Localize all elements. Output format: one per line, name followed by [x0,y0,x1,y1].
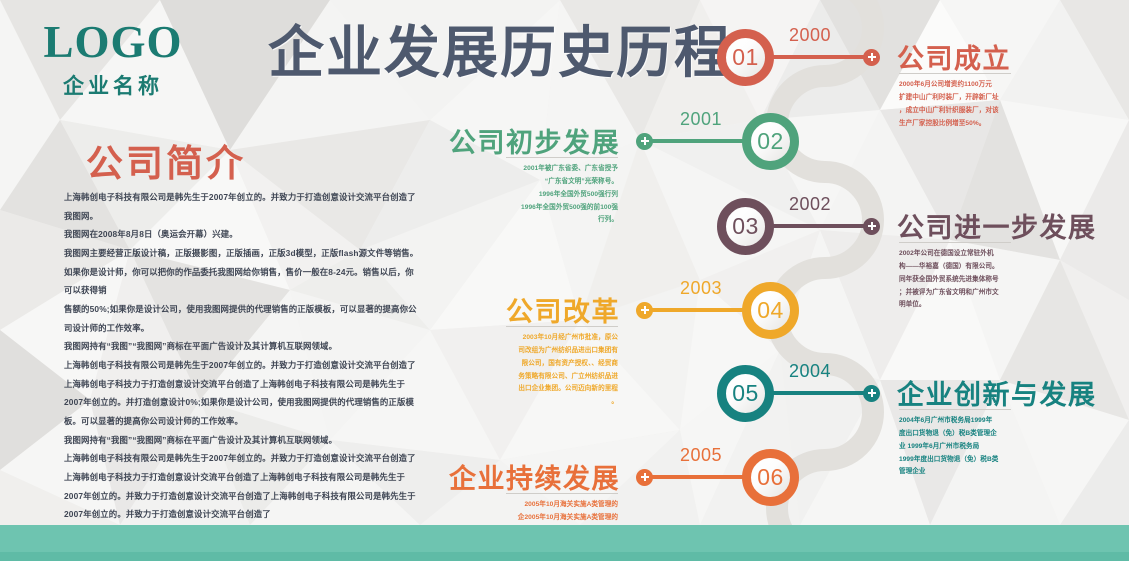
profile-paragraph: 上海韩创电子科技有限公司是韩先生于2007年创立的。并致力于打造创意设计交流平台… [64,449,420,468]
timeline-description-line: ，成立中山广利针织服装厂，对该 [899,105,1015,118]
plus-icon [641,306,649,314]
profile-paragraph: 我图网持有“我图”“我图网”商标在平面广告设计及其计算机互联网领域。 [64,431,420,450]
timeline-connector-line [765,391,871,395]
timeline-connector-line [644,139,750,143]
timeline-plus-knob[interactable] [863,218,880,235]
timeline-title-rule [899,73,1011,74]
timeline-year-label: 2004 [789,361,831,382]
timeline-title-rule [506,157,618,158]
timeline-year-label: 2001 [680,109,722,130]
profile-paragraph: 上海韩创电子科技有限公司是韩先生于2007年创立的。并致力于打造创意设计交流平台… [64,188,420,207]
timeline-description-line: “广东省文明”光荣称号。 [502,176,618,189]
timeline-item-title: 公司改革 [506,290,620,329]
timeline-description-line: ；并被评为广东省文明和广州市文 [899,287,1015,300]
timeline-connector-line [644,308,750,312]
timeline-description-line: 1996年全国外贸500强行列 [502,189,618,202]
plus-icon [868,53,876,61]
timeline-description-line: 2001年被广东省委、广东省授予 [502,163,618,176]
timeline-description-line: 限公司，国有资产授权、、经贸商 [502,358,618,371]
timeline-plus-knob[interactable] [636,469,653,486]
timeline-description-line: 1999年度出口货物退（免）税B类 [899,454,1015,467]
plus-icon [641,473,649,481]
timeline-description-line: 明单位。 [899,299,1015,312]
timeline-description-line: 生产厂家控股比例增至50%。 [899,118,1015,131]
timeline-description-line: 2000年6月公司增资约1100万元 [899,79,1015,92]
timeline-description-line: 同年获全国外贸系统先进集体称号 [899,274,1015,287]
timeline-item-description: 2002年公司在德国设立常驻外机构——华裕嘉（德国）有限公司。同年获全国外贸系统… [899,248,1015,312]
timeline-title-rule [899,409,1011,410]
profile-paragraph: 如果你是设计师，你可以把你的作品委托我图网给你销售，售价一般在8-24元。销售以… [64,263,420,282]
timeline-title-rule [899,242,1011,243]
timeline-plus-knob[interactable] [636,133,653,150]
company-profile-heading: 公司简介 [86,133,246,187]
timeline-year-label: 2005 [680,445,722,466]
timeline-item-description: 2001年被广东省委、广东省授予“广东省文明”光荣称号。1996年全国外贸500… [502,163,618,227]
timeline-connector-line [765,224,871,228]
timeline-item-title: 企业持续发展 [449,457,620,496]
timeline-year-label: 2003 [680,278,722,299]
profile-paragraph: 我图网主要经营正版设计稿，正版摄影图，正版插画，正版3d模型，正版flash源文… [64,244,420,263]
timeline-description-line: 2005年10月海关实施A类管理的 [502,499,618,512]
timeline-number-circle[interactable]: 06 [742,449,799,506]
profile-paragraph: 2007年创立的。并致力于打造创意设计交流平台创造了 [64,505,420,524]
timeline-description-line: 企2005年10月海关实施A类管理的 [502,512,618,525]
profile-paragraph: 可以获得销 [64,281,420,300]
timeline-plus-knob[interactable] [863,385,880,402]
timeline-connector-line [765,55,871,59]
timeline-item-title: 企业创新与发展 [897,373,1097,412]
timeline-number-label: 04 [757,299,784,322]
timeline-item-description: 2003年10月经广州市批准，原公司改组为广州纺织品进出口集团有限公司，国有资产… [502,332,618,409]
profile-paragraph: 司设计师的工作效率。 [64,319,420,338]
footer-band-accent [0,552,1129,561]
logo-wordmark: LOGO [28,20,198,65]
timeline-connector-line [644,475,750,479]
profile-paragraph: 售额的50%;如果你是设计公司，使用我图网提供的代理销售的正版模板，可以显著的提… [64,300,420,319]
timeline-plus-knob[interactable] [863,49,880,66]
timeline-description-line: 度出口货物退（免）税B类管理企 [899,428,1015,441]
timeline-number-label: 05 [732,382,759,405]
profile-paragraph: 板。可以显著的提高你公司设计师的工作效率。 [64,412,420,431]
timeline-number-circle[interactable]: 02 [742,113,799,170]
timeline-description-line: 2002年公司在德国设立常驻外机 [899,248,1015,261]
timeline-title-rule [506,493,618,494]
timeline-number-label: 03 [732,215,759,238]
profile-paragraph: 上海韩创电子科技力于打造创意设计交流平台创造了上海韩创电子科技有限公司是韩先生于 [64,375,420,394]
profile-paragraph: 我图网持有“我图”“我图网”商标在平面广告设计及其计算机互联网领域。 [64,337,420,356]
timeline-item-description: 2000年6月公司增资约1100万元扩建中山广利时装厂，开辟新厂址，成立中山广利… [899,79,1015,130]
timeline-item-description: 2004年6月广州市税务局1999年度出口货物退（免）税B类管理企业 1999年… [899,415,1015,479]
timeline-description-line: 行列。 [502,214,618,227]
timeline-number-label: 06 [757,466,784,489]
plus-icon [868,222,876,230]
logo-block: LOGO 企业名称 [28,20,198,100]
timeline-description-line: 业 1999年6月广州市税务局 [899,441,1015,454]
timeline-description-line: 构——华裕嘉（德国）有限公司。 [899,261,1015,274]
timeline-title-rule [506,326,618,327]
timeline-description-line: 管理企业 [899,466,1015,479]
timeline-plus-knob[interactable] [636,302,653,319]
profile-paragraph: 2007年创立的。并致力于打造创意设计交流平台创造了上海韩创电子科技有限公司是韩… [64,487,420,506]
poster-canvas: LOGO 企业名称 企业发展历史历程 公司简介 上海韩创电子科技有限公司是韩先生… [0,0,1129,561]
logo-subtitle: 企业名称 [28,70,198,100]
profile-paragraph: 上海韩创电子科技力于打造创意设计交流平台创造了上海韩创电子科技有限公司是韩先生于 [64,468,420,487]
timeline-year-label: 2002 [789,194,831,215]
company-profile-body: 上海韩创电子科技有限公司是韩先生于2007年创立的。并致力于打造创意设计交流平台… [64,188,420,524]
timeline-item-title: 公司初步发展 [449,121,620,160]
timeline-number-circle[interactable]: 04 [742,282,799,339]
timeline-number-label: 01 [732,46,759,69]
timeline-description-line: 1996年全国外贸500强的前100强 [502,202,618,215]
timeline-description-line: 务策略有限公司、广立州纺织品进 [502,371,618,384]
profile-paragraph: 2007年创立的。并打造创意设计0%;如果你是设计公司，使用我图网提供的代理销售… [64,393,420,412]
timeline-year-label: 2000 [789,25,831,46]
timeline-description-line: 2004年6月广州市税务局1999年 [899,415,1015,428]
timeline-description-line: 司改组为广州纺织品进出口集团有 [502,345,618,358]
profile-paragraph: 我图网。 [64,207,420,226]
timeline-item-title: 公司成立 [897,37,1011,76]
profile-paragraph: 上海韩创电子科技有限公司是韩先生于2007年创立的。并致力于打造创意设计交流平台… [64,356,420,375]
plus-icon [868,389,876,397]
timeline-description-line: 扩建中山广利时装厂，开辟新厂址 [899,92,1015,105]
timeline-number-label: 02 [757,130,784,153]
profile-paragraph: 我图网在2008年8月8日（奥运会开幕）兴建。 [64,225,420,244]
timeline-description-line: 出口企业集团。公司迈向新的里程 [502,383,618,396]
timeline-description-line: 。 [502,396,618,409]
plus-icon [641,137,649,145]
timeline-description-line: 2003年10月经广州市批准，原公 [502,332,618,345]
timeline-item-title: 公司进一步发展 [897,206,1097,245]
